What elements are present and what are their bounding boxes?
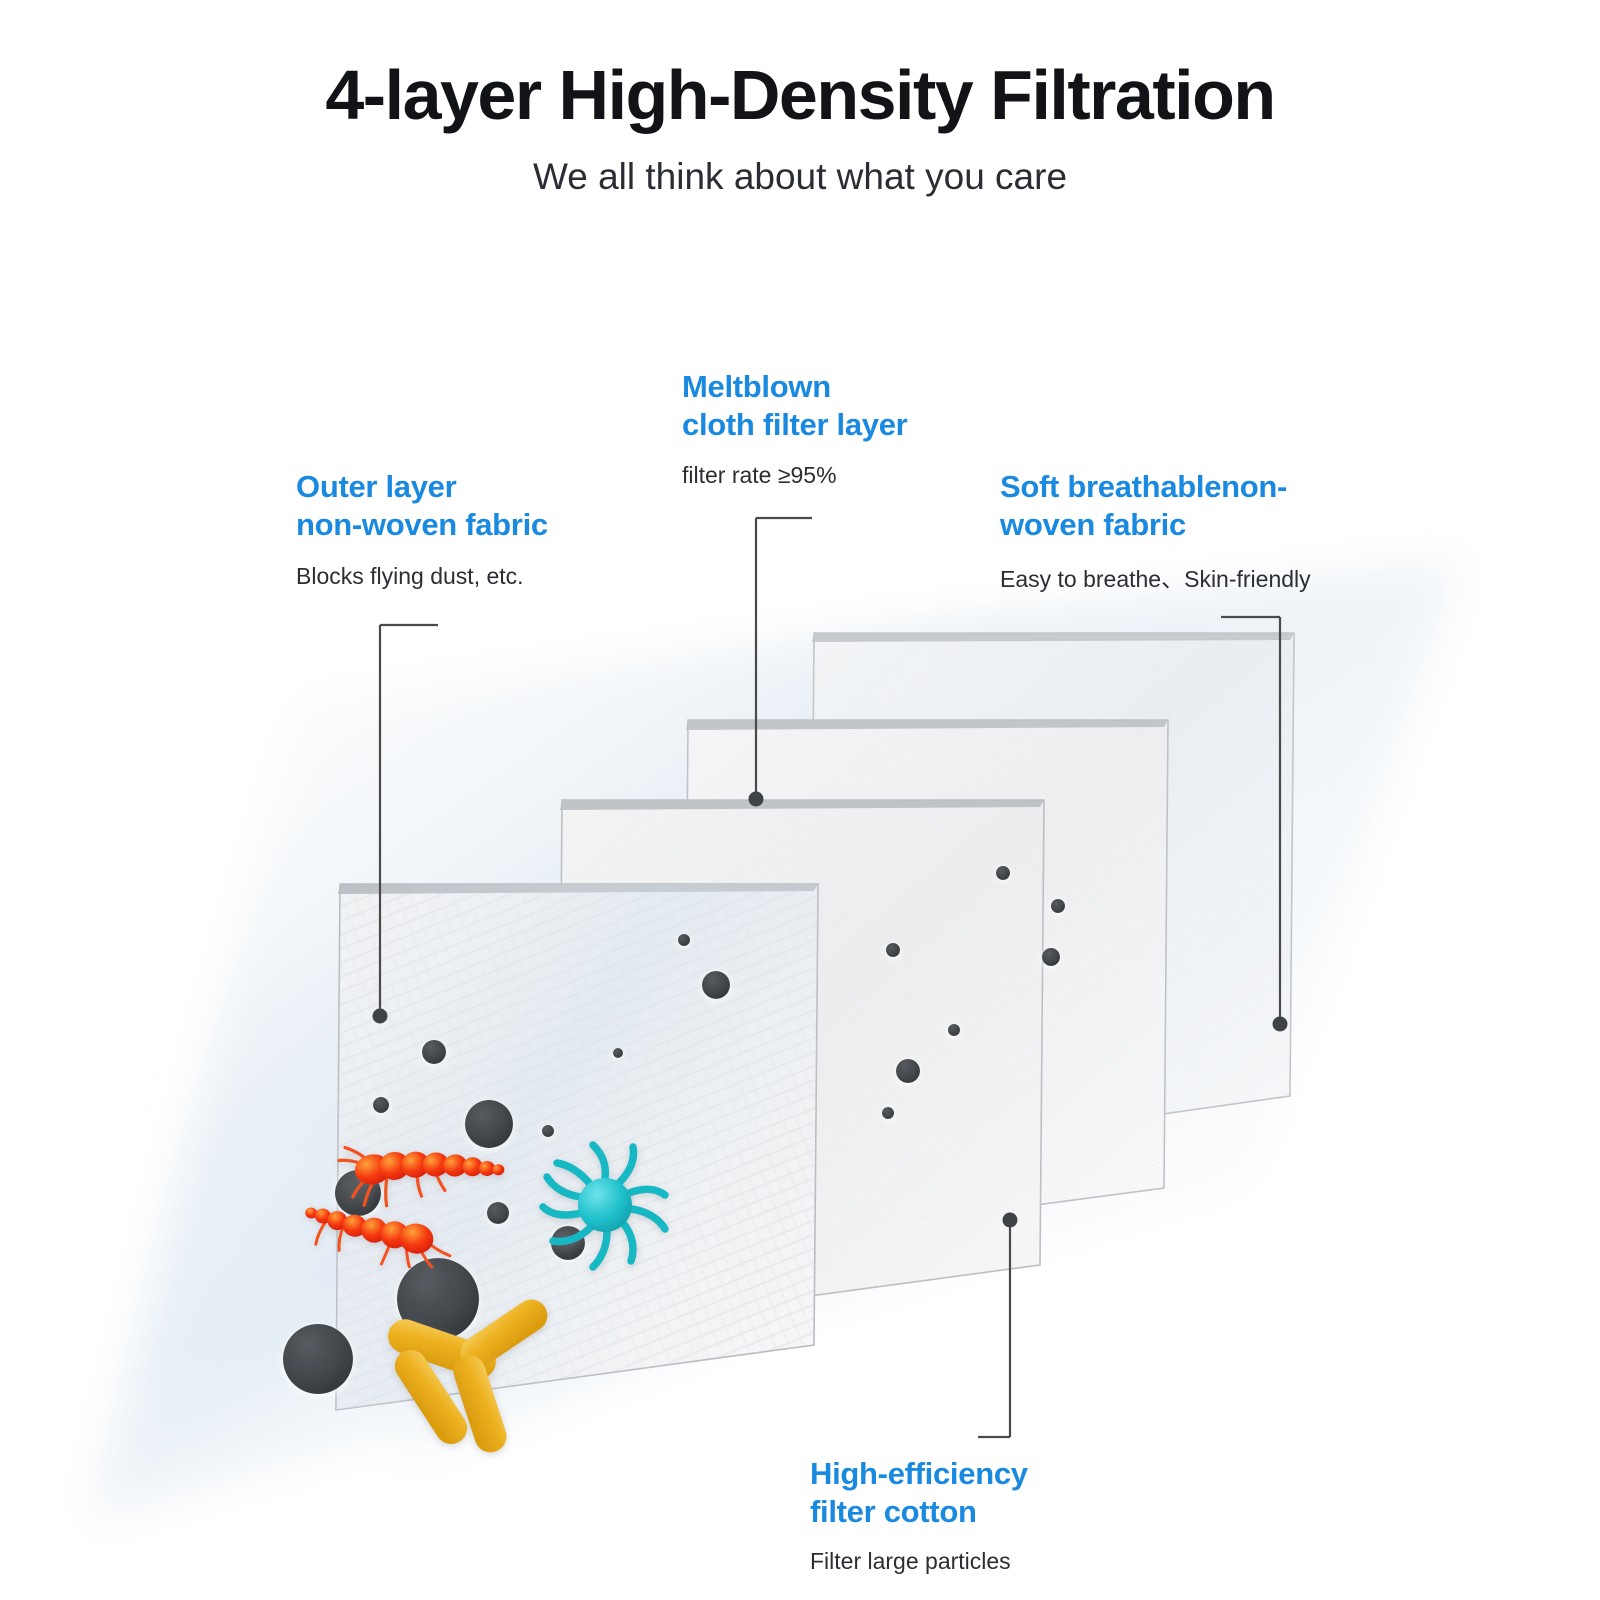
callout-title-meltblown: Meltblown cloth filter layer — [682, 368, 907, 444]
dust-particle — [613, 1048, 623, 1058]
callout-subtitle-soft-breathable: Easy to breathe、Skin-friendly — [1000, 560, 1311, 594]
dust-particle — [996, 866, 1010, 880]
callout-subtitle-filter-cotton: Filter large particles — [810, 1548, 1011, 1575]
dust-particle — [373, 1097, 389, 1113]
callout-title-filter-cotton: High-efficiency filter cotton — [810, 1455, 1028, 1531]
exploded-layer-diagram — [0, 0, 1600, 1600]
dust-particle — [702, 971, 730, 999]
dust-particle — [283, 1324, 353, 1394]
dust-particle — [487, 1202, 509, 1224]
dust-particle — [542, 1125, 554, 1137]
callout-subtitle-meltblown: filter rate ≥95% — [682, 462, 837, 489]
dust-particle — [948, 1024, 960, 1036]
callout-title-soft-breathable: Soft breathablenon- woven fabric — [1000, 468, 1287, 544]
dust-particle — [882, 1107, 894, 1119]
dust-particle — [886, 943, 900, 957]
dust-particle — [896, 1059, 920, 1083]
callout-title-outer-layer: Outer layer non-woven fabric — [296, 468, 548, 544]
dust-particle — [678, 934, 690, 946]
callout-subtitle-outer-layer: Blocks flying dust, etc. — [296, 563, 524, 590]
infographic-canvas: 4-layer High-Density Filtration We all t… — [0, 0, 1600, 1600]
dust-particle — [422, 1040, 446, 1064]
dust-particle — [1042, 948, 1060, 966]
dust-particle — [465, 1100, 513, 1148]
dust-particle — [1051, 899, 1065, 913]
